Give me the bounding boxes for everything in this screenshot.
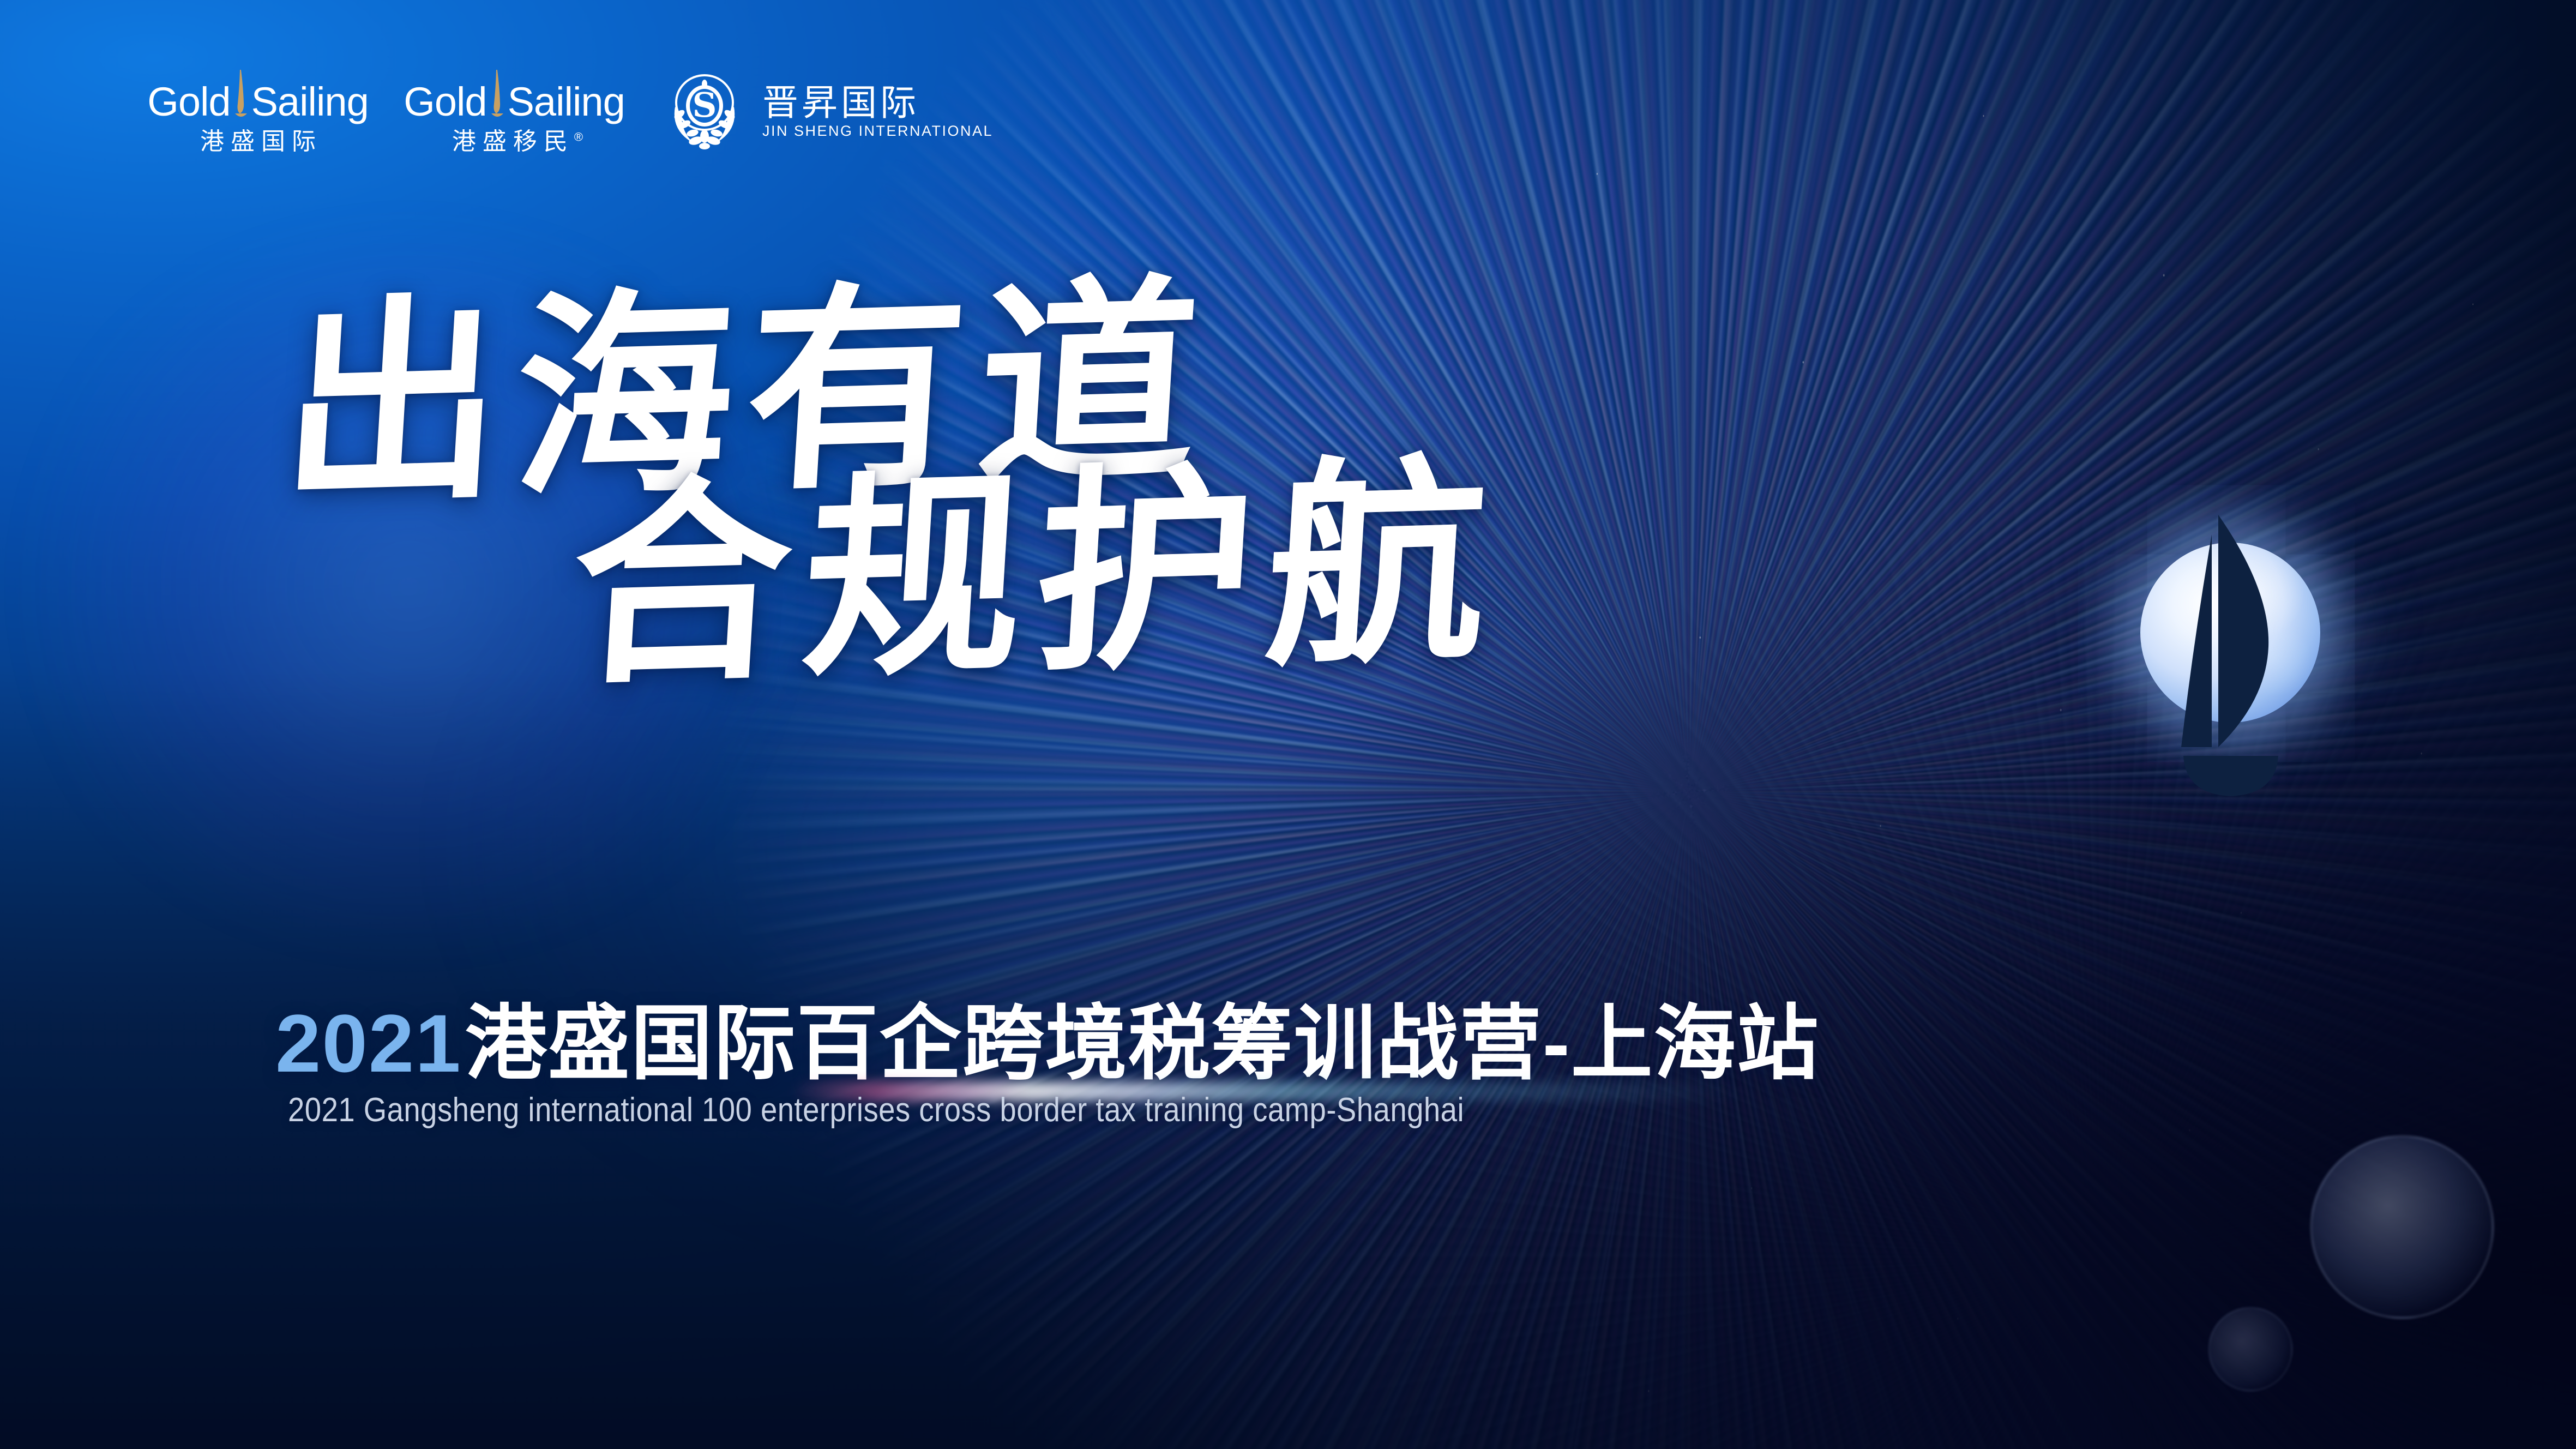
s-wreath-emblem-icon: S <box>661 68 748 155</box>
logo-word-right: Sailing <box>251 82 369 122</box>
logo-english-name: JIN SHENG INTERNATIONAL <box>762 124 993 139</box>
event-banner: Gold Sailing 港盛国际 Gold Sailing 港盛移民® <box>0 0 2576 1449</box>
sailboat-silhouette-icon <box>2159 513 2301 802</box>
logo-text-block: 晋昇国际 JIN SHENG INTERNATIONAL <box>762 85 993 139</box>
logo-chinese-name: 港盛国际 <box>194 130 322 154</box>
subtitle-year: 2021 <box>275 997 462 1089</box>
logo-gold-sailing-international[interactable]: Gold Sailing 港盛国际 <box>130 65 386 154</box>
logo-chinese-name: 港盛移民® <box>446 130 583 154</box>
svg-text:S: S <box>693 85 717 125</box>
logo-word-right: Sailing <box>508 82 625 122</box>
subtitle-english: 2021 Gangsheng international 100 enterpr… <box>288 1093 1464 1127</box>
logo-wordmark: Gold Sailing <box>147 65 368 122</box>
subtitle-chinese: 2021港盛国际百企跨境税筹训战营-上海站 <box>275 1002 1820 1084</box>
subtitle-chinese-text: 港盛国际百企跨境税筹训战营-上海站 <box>465 997 1820 1089</box>
logo-word-left: Gold <box>404 82 486 122</box>
registered-trademark-icon: ® <box>574 130 583 143</box>
logo-word-left: Gold <box>147 82 230 122</box>
gold-sail-icon <box>232 70 250 120</box>
gold-sail-icon <box>488 70 507 120</box>
logo-gold-sailing-immigration[interactable]: Gold Sailing 港盛移民® <box>386 65 642 154</box>
logo-bar: Gold Sailing 港盛国际 Gold Sailing 港盛移民® <box>130 65 993 155</box>
logo-wordmark: Gold Sailing <box>404 65 624 122</box>
logo-chinese-name: 晋昇国际 <box>762 85 993 121</box>
logo-jin-sheng-international[interactable]: S 晋昇国际 JIN SHENG INTERNATIONAL <box>661 65 993 155</box>
